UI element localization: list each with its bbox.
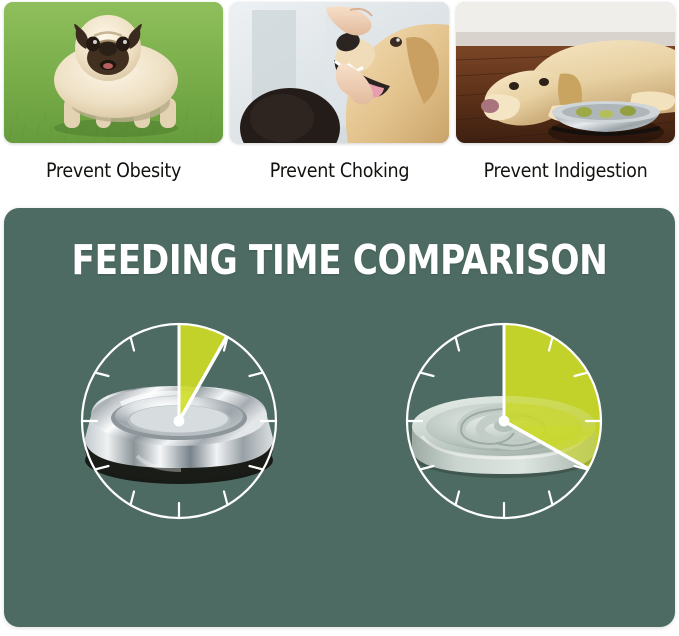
fat-pug-on-grass-photo — [4, 2, 223, 143]
benefit-card-choking[interactable]: Prevent Choking — [230, 2, 449, 143]
benefits-row: Prevent Obesity — [0, 0, 679, 200]
panel-title: FEEDING TIME COMPARISON — [27, 236, 651, 284]
benefit-card-indigestion[interactable]: Prevent Indigestion — [456, 2, 675, 143]
benefit-card-obesity[interactable]: Prevent Obesity — [4, 2, 223, 143]
person-checking-dog-mouth-photo — [230, 2, 449, 143]
benefit-caption: Prevent Choking — [230, 159, 449, 182]
benefit-caption: Prevent Obesity — [4, 159, 223, 182]
labrador-lying-next-to-bowl-photo — [456, 2, 675, 143]
gauge-normal-bowl — [25, 308, 325, 523]
benefit-caption: Prevent Indigestion — [456, 159, 675, 182]
feeding-time-comparison-panel: FEEDING TIME COMPARISON — [4, 208, 675, 627]
gauge-slow-feeding-bowl — [350, 308, 650, 523]
